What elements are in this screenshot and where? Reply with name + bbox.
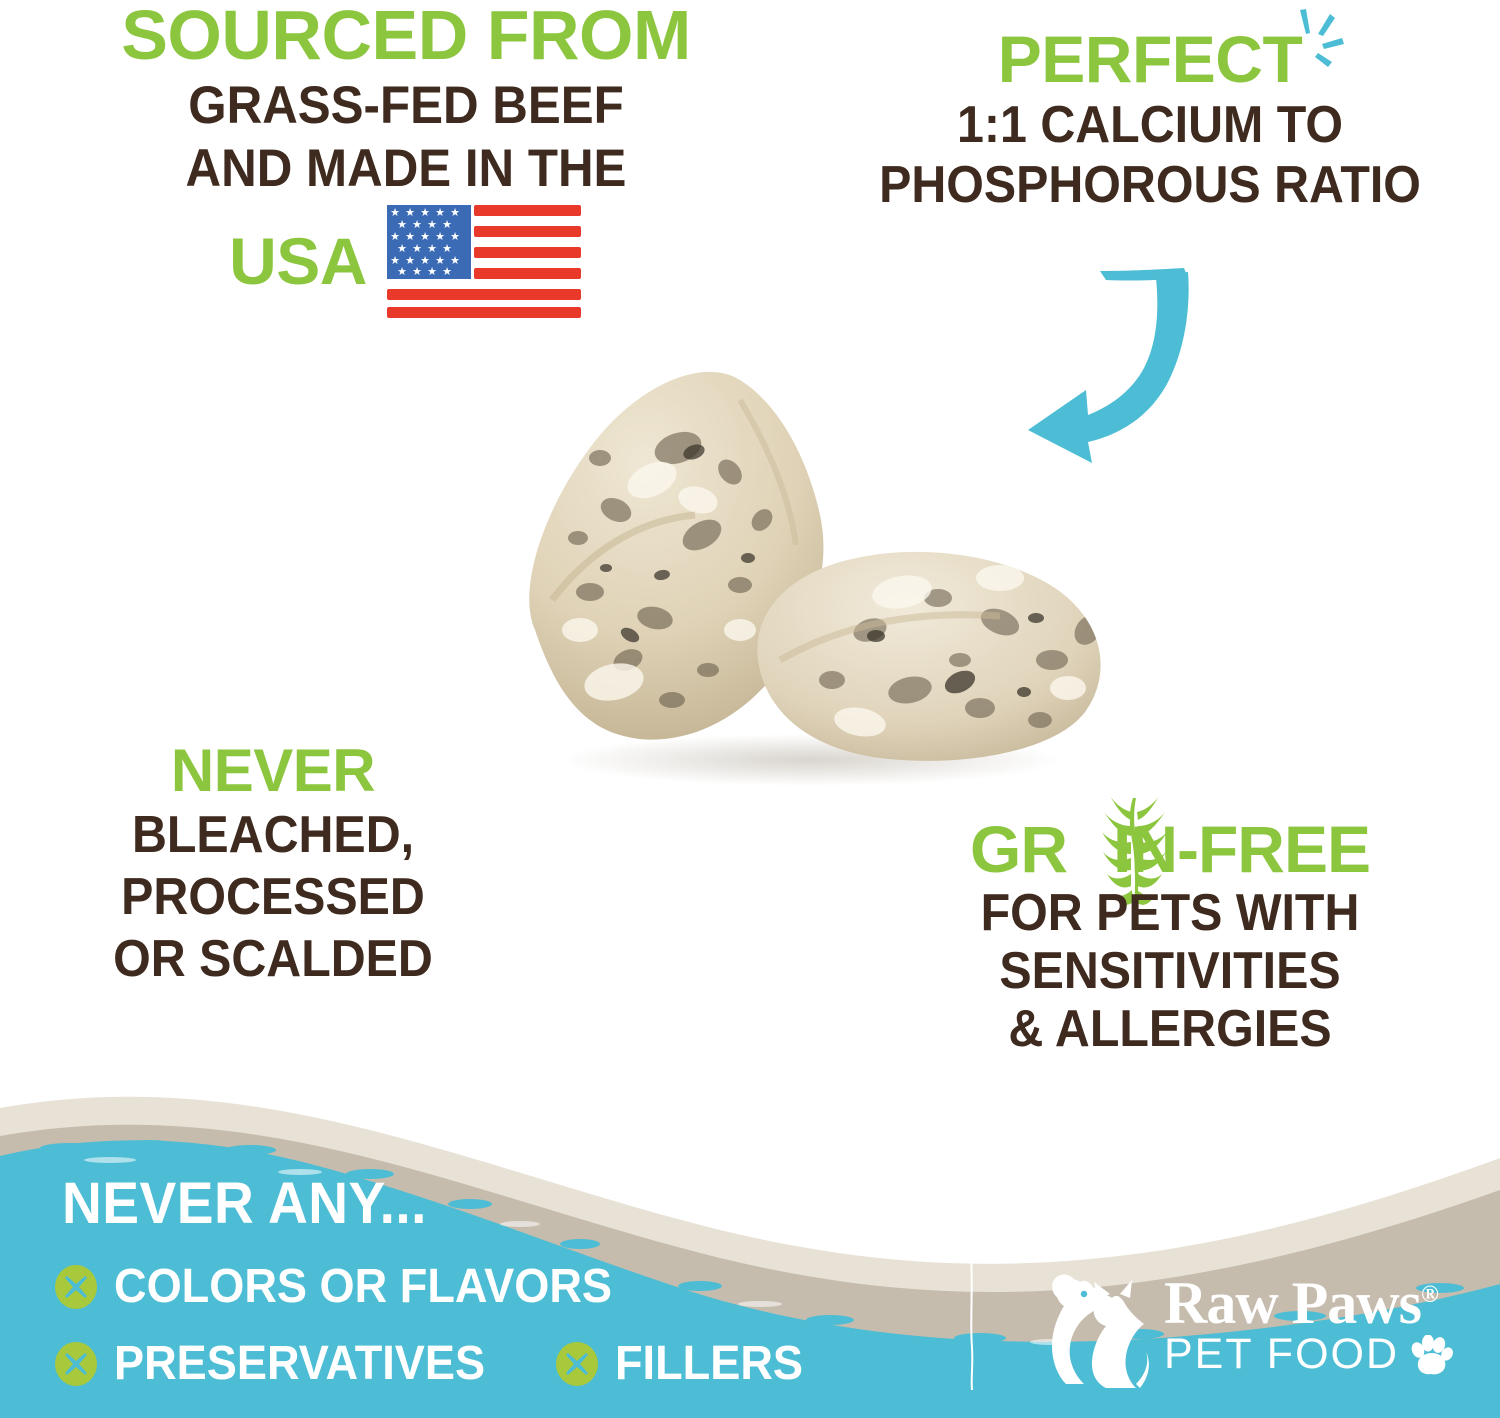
logo-text: Raw Paws® PET FOOD (1164, 1275, 1453, 1379)
feature-perfect-ratio: PERFECT 1:1 CALCIUM TO PHOSPHOROUS RATIO (830, 28, 1470, 211)
grain-line-1: FOR PETS WITH (928, 887, 1412, 939)
banner-bullet-row-2: PRESERVATIVES FILLERS (54, 1340, 861, 1388)
grain-line-2: SENSITIVITIES (928, 945, 1412, 997)
x-circle-icon (555, 1342, 599, 1386)
bullet-colors-or-flavors: COLORS OR FLAVORS (54, 1263, 644, 1311)
svg-text:★: ★ (427, 265, 437, 278)
dog-and-cat-silhouette-icon (1040, 1264, 1158, 1390)
brand-logo[interactable]: Raw Paws® PET FOOD (1040, 1252, 1450, 1402)
sparkle-burst-icon (1278, 4, 1348, 74)
never-line-3: OR SCALDED (64, 933, 483, 985)
perfect-headline-wrap: PERFECT (998, 28, 1303, 91)
banner-bullet-row-1: COLORS OR FLAVORS (54, 1263, 690, 1311)
svg-text:★: ★ (442, 265, 452, 278)
x-circle-icon (54, 1342, 98, 1386)
usa-flag-icon: ★★★★★ ★★★★ ★★★★★ ★★★★ ★★★★★ ★★★★ (385, 203, 583, 321)
infographic-canvas: SOURCED FROM GRASS-FED BEEF AND MADE IN … (0, 0, 1500, 1418)
bullet-label: PRESERVATIVES (114, 1340, 485, 1388)
usa-label: USA (229, 230, 367, 293)
grain-headline-wrap: GRIN-FREE (970, 818, 1370, 881)
logo-tagline: PET FOOD (1164, 1330, 1399, 1379)
bullet-preservatives: PRESERVATIVES (54, 1340, 509, 1388)
product-photo-freeze-dried-treats (440, 330, 1130, 790)
bullet-label: FILLERS (615, 1340, 803, 1388)
perfect-line-2: PHOSPHOROUS RATIO (852, 159, 1447, 211)
never-headline: NEVER (48, 742, 498, 799)
perfect-headline: PERFECT (998, 22, 1303, 96)
logo-brand-name: Raw Paws® (1164, 1275, 1453, 1332)
paw-print-icon (1409, 1335, 1453, 1375)
logo-tagline-row: PET FOOD (1164, 1330, 1453, 1379)
grain-headline-before: GR (970, 812, 1067, 886)
banner-title: NEVER ANY... (62, 1170, 427, 1237)
bullet-label: COLORS OR FLAVORS (114, 1263, 612, 1311)
sourced-line-2: AND MADE IN THE (108, 142, 703, 195)
never-line-1: BLEACHED, (64, 809, 483, 861)
feature-never-bleached: NEVER BLEACHED, PROCESSED OR SCALDED (48, 742, 498, 985)
feature-sourced-from: SOURCED FROM GRASS-FED BEEF AND MADE IN … (86, 2, 726, 321)
svg-text:★: ★ (397, 265, 407, 278)
feature-grain-free: GRIN-FREE FOR PE (910, 818, 1430, 1055)
vertical-divider-icon (968, 1258, 975, 1390)
bullet-fillers: FILLERS (555, 1340, 815, 1388)
svg-text:★: ★ (412, 265, 422, 278)
registered-mark: ® (1421, 1282, 1438, 1308)
usa-row: USA ★★★★★ ★★★★ (86, 203, 726, 321)
grain-line-3: & ALLERGIES (928, 1003, 1412, 1055)
x-circle-icon (54, 1265, 98, 1309)
never-line-2: PROCESSED (64, 871, 483, 923)
sourced-line-1: GRASS-FED BEEF (108, 79, 703, 132)
sourced-headline: SOURCED FROM (86, 2, 726, 69)
perfect-line-1: 1:1 CALCIUM TO (852, 99, 1447, 151)
